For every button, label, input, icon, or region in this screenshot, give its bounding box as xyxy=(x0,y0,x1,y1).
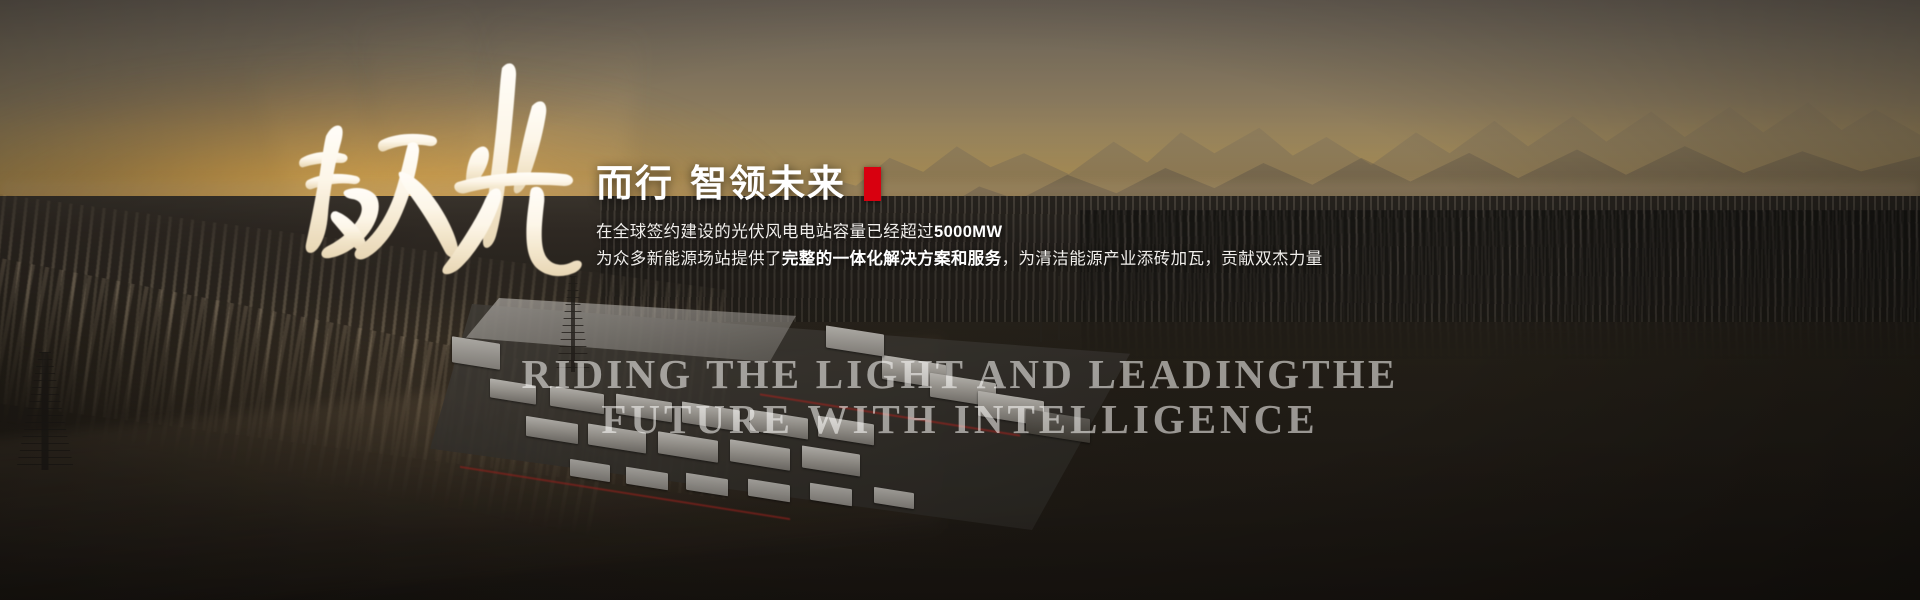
hero-banner: 而行 智领未来 在全球签约建设的光伏风电电站容量已经超过5000MW 为众多新能… xyxy=(0,0,1920,600)
solution-highlight: 完整的一体化解决方案和服务 xyxy=(782,250,1002,268)
headline-part1: 而行 xyxy=(596,164,674,204)
red-accent-block xyxy=(864,167,881,201)
description-line-2: 为众多新能源场站提供了完整的一体化解决方案和服务，为清洁能源产业添砖加瓦，贡献双… xyxy=(596,247,1356,272)
substation-compound xyxy=(430,286,1130,536)
description-line-1: 在全球签约建设的光伏风电电站容量已经超过5000MW xyxy=(596,220,1356,245)
utility-pole xyxy=(1058,276,1060,340)
description-line-1-text: 在全球签约建设的光伏风电电站容量已经超过 xyxy=(596,223,934,241)
hero-copy: 而行 智领未来 在全球签约建设的光伏风电电站容量已经超过5000MW 为众多新能… xyxy=(596,164,1356,272)
description-line-2-suffix: ，为清洁能源产业添砖加瓦，贡献双杰力量 xyxy=(1002,250,1323,268)
headline: 而行 智领未来 xyxy=(596,164,1356,204)
description-line-2-prefix: 为众多新能源场站提供了 xyxy=(596,250,782,268)
capacity-value: 5000MW xyxy=(934,223,1002,241)
headline-part2: 智领未来 xyxy=(690,164,846,204)
utility-pole xyxy=(1040,270,1042,342)
